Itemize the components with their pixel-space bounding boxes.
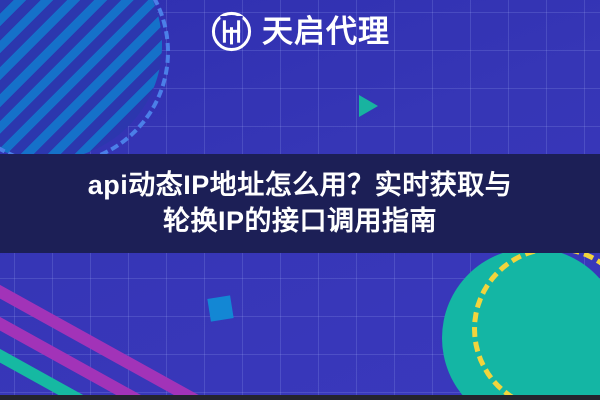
- page-title-line-2: 轮换IP的接口调用指南: [163, 204, 437, 240]
- promo-banner: 天启代理 api动态IP地址怎么用？实时获取与 轮换IP的接口调用指南: [0, 0, 600, 400]
- bottom-dark-strip: [0, 395, 600, 400]
- page-title-line-1: api动态IP地址怎么用？实时获取与: [88, 168, 513, 204]
- tianqi-circle-h-logo-icon: [210, 10, 253, 53]
- brand-name: 天启代理: [262, 16, 390, 47]
- title-band: api动态IP地址怎么用？实时获取与 轮换IP的接口调用指南: [0, 154, 600, 253]
- play-triangle-green-icon: [359, 95, 378, 117]
- brand-logo-row: 天启代理: [0, 10, 600, 53]
- rotated-square-cyan-decoration: [207, 295, 233, 321]
